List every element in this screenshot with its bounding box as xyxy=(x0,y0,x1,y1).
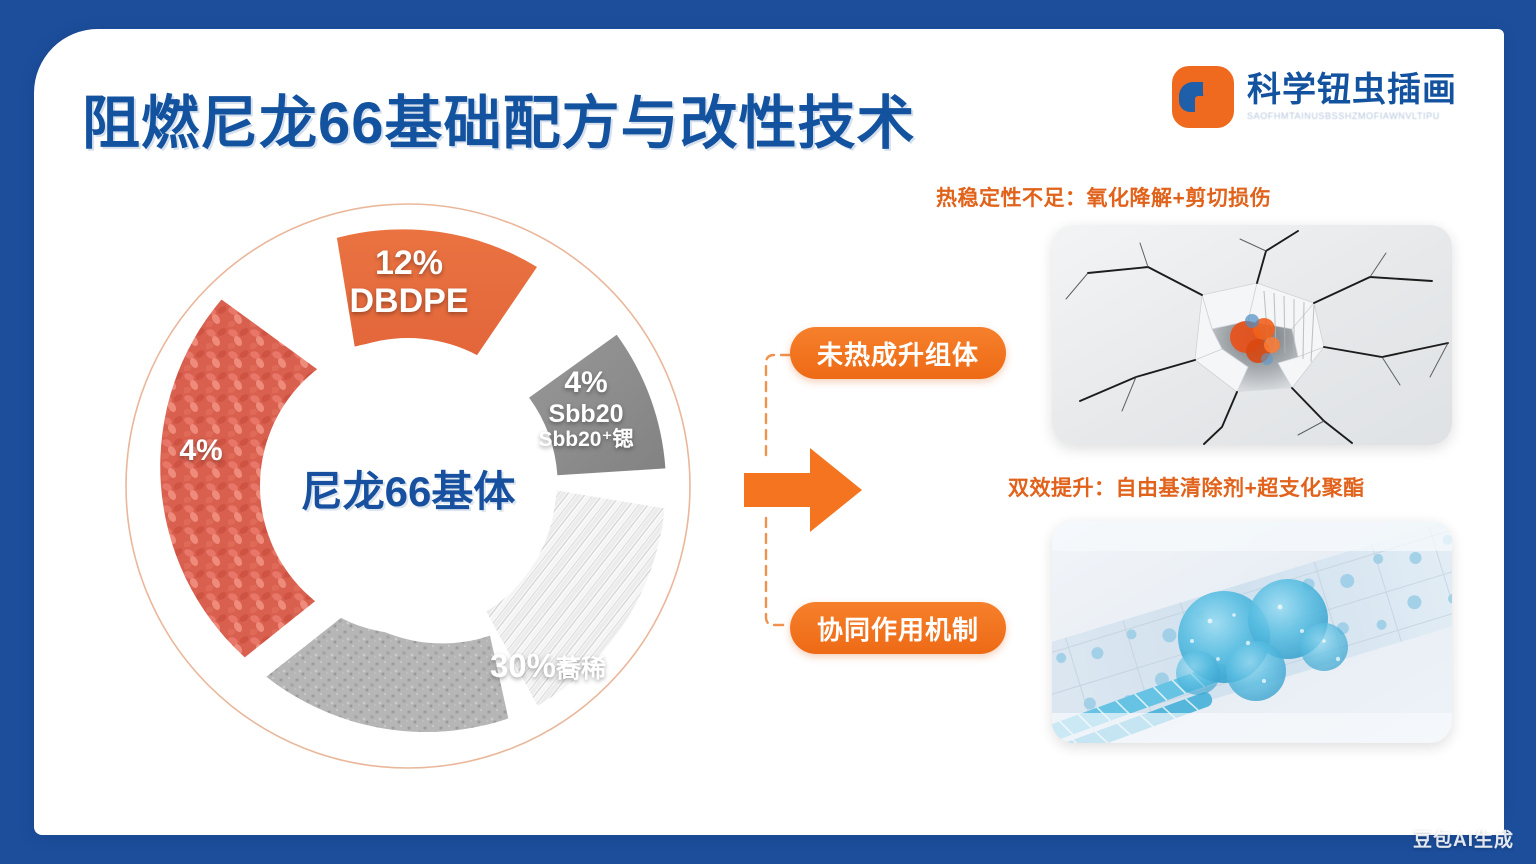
flow-pill-top[interactable]: 未热成升组体 xyxy=(790,327,1006,379)
logo-subtitle: SAOFHMTAINUSBSSHZMOFIAWNVLTIPU xyxy=(1247,111,1457,121)
brand-logo: 科学钮虫插画 SAOFHMTAINUSBSSHZMOFIAWNVLTIPU xyxy=(1172,66,1457,128)
image-molecular-fiber xyxy=(1052,521,1452,743)
arrow-right-icon xyxy=(744,448,862,532)
page-title: 阻燃尼龙66基础配方与改性技术 xyxy=(82,76,916,160)
slide-canvas: 阻燃尼龙66基础配方与改性技术 科学钮虫插画 SAOFHMTAINUSBSSHZ… xyxy=(0,0,1536,864)
flow-pill-bottom[interactable]: 协同作用机制 xyxy=(790,602,1006,654)
donut-chart: 12% DBDPE 4% Sbb20 Sbb20⁺锶 30%蕎稀 4% 尼龙66… xyxy=(118,196,698,776)
flow-pill-top-label: 未热成升组体 xyxy=(817,335,979,372)
image-cracked-polymer xyxy=(1052,225,1452,445)
flow-pill-bottom-label: 协同作用机制 xyxy=(817,610,979,647)
logo-mark-icon xyxy=(1172,66,1234,128)
logo-name: 科学钮虫插画 xyxy=(1247,73,1457,109)
caption-thermal-instability: 热稳定性不足：氧化降解+剪切损伤 xyxy=(936,182,1271,212)
watermark: 豆包AI生成 xyxy=(1413,825,1514,852)
caption-dual-enhancement: 双效提升：自由基清除剂+超支化聚酯 xyxy=(1008,472,1365,502)
donut-center-hole xyxy=(260,338,556,634)
